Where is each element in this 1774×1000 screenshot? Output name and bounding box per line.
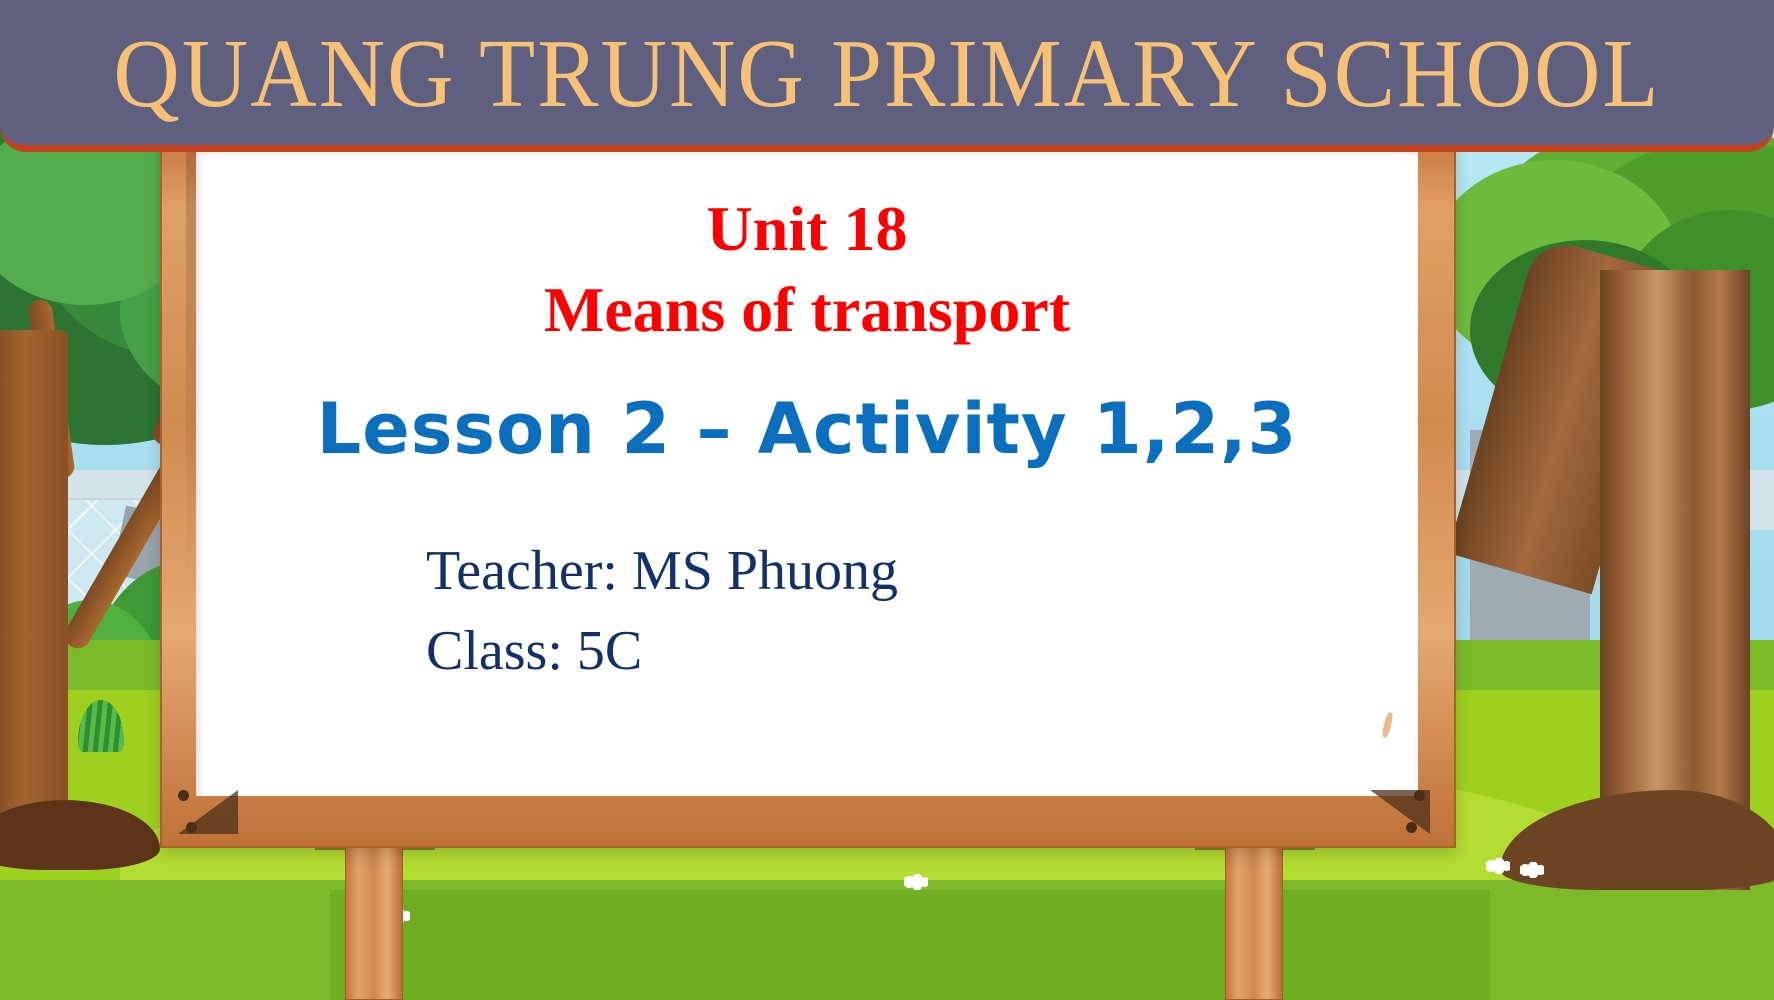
board-leg-icon bbox=[345, 838, 403, 1000]
class-name: Class: 5C bbox=[426, 612, 1378, 692]
lesson-meta: Teacher: MS Phuong Class: 5C bbox=[236, 532, 1378, 691]
unit-title: Unit 18 bbox=[236, 194, 1378, 263]
board-leg-icon bbox=[1225, 838, 1283, 1000]
slide-canvas: Unit 18 Means of transport Lesson 2 – Ac… bbox=[0, 0, 1774, 1000]
screw-icon bbox=[186, 822, 197, 833]
screw-icon bbox=[178, 790, 189, 801]
lesson-subtitle: Lesson 2 – Activity 1,2,3 bbox=[236, 388, 1378, 470]
school-name-title: QUANG TRUNG PRIMARY SCHOOL bbox=[59, 24, 1714, 122]
teacher-name: Teacher: MS Phuong bbox=[426, 532, 1378, 612]
slide-body: Unit 18 Means of transport Lesson 2 – Ac… bbox=[196, 150, 1418, 796]
topic-title: Means of transport bbox=[236, 275, 1378, 344]
screw-icon bbox=[1406, 822, 1417, 833]
school-header-bar: QUANG TRUNG PRIMARY SCHOOL bbox=[0, 0, 1774, 152]
